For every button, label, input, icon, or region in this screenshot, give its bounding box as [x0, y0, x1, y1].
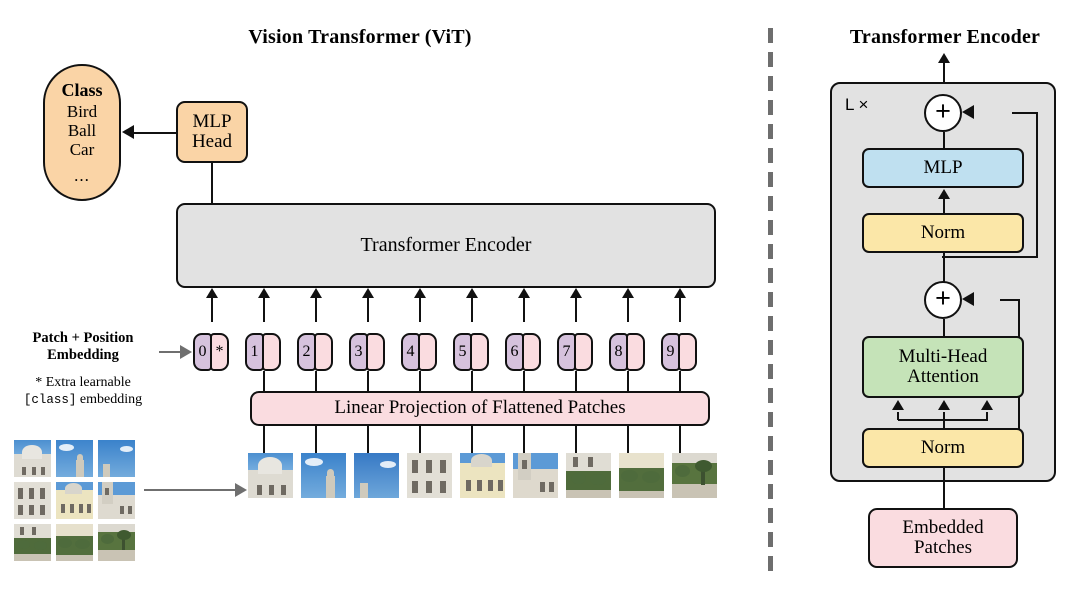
attention-label-line2: Attention [907, 367, 979, 387]
token-group-4: 4 [401, 333, 437, 371]
token-group-9: 9 [661, 333, 697, 371]
norm-bottom-label: Norm [921, 438, 965, 458]
embedded-patches-line1: Embedded [902, 518, 983, 538]
patch-stem-1 [263, 426, 265, 453]
patch-stem-8 [627, 426, 629, 453]
norm-bottom-box: Norm [862, 428, 1024, 468]
skip-top-vertical [1036, 112, 1038, 258]
skip-top-horizontal [1012, 112, 1038, 114]
skip-top-tap [942, 256, 1038, 258]
patch-position-embedding-label: Patch + Position Embedding [8, 330, 158, 364]
token-arrow-head-2 [310, 288, 322, 298]
patch-stem-3 [367, 426, 369, 453]
token-arrow-stem-4 [419, 298, 421, 322]
token-arrow-head-8 [622, 288, 634, 298]
patch-stem-9 [679, 426, 681, 453]
token-group-3: 3 [349, 333, 385, 371]
token-arrow-head-6 [518, 288, 530, 298]
token-arrow-head-7 [570, 288, 582, 298]
token-arrow-stem-6 [523, 298, 525, 322]
embedding-label-arrowhead [180, 345, 192, 359]
proj-stem-1 [263, 371, 265, 393]
note-line2-suffix: embedding [76, 392, 142, 407]
residual-add-top: + [924, 94, 962, 132]
proj-stem-3 [367, 371, 369, 393]
panel-divider [768, 28, 773, 576]
embedded-patches-line2: Patches [914, 538, 972, 558]
token-patch-1 [262, 333, 281, 371]
token-patch-9 [678, 333, 697, 371]
token-arrow-stem-2 [315, 298, 317, 322]
class-item-bird: Bird [67, 102, 97, 121]
token-group-8: 8 [609, 333, 645, 371]
source-patch-1-1 [56, 482, 93, 519]
mlphead-to-encoder-line [211, 163, 213, 205]
token-patch-3 [366, 333, 385, 371]
class-token-mono-label: [class] [24, 393, 77, 407]
token-arrow-stem-0 [211, 298, 213, 322]
left-panel-title: Vision Transformer (ViT) [190, 26, 530, 49]
token-group-1: 1 [245, 333, 281, 371]
extra-learnable-note: * Extra learnable [class] embedding [8, 375, 158, 409]
normtop-to-mlp-stem [943, 199, 945, 214]
strip-patch-1 [248, 453, 293, 498]
patch-stem-2 [315, 426, 317, 453]
proj-stem-9 [679, 371, 681, 393]
skip-bottom-horizontal [1000, 299, 1020, 301]
image-to-patches-arrowhead [235, 483, 247, 497]
transformer-encoder-block-label: Transformer Encoder [361, 235, 532, 256]
patch-stem-5 [471, 426, 473, 453]
proj-stem-4 [419, 371, 421, 393]
token-arrow-stem-3 [367, 298, 369, 322]
token-patch-6 [522, 333, 541, 371]
qkv-arrowhead-left [892, 400, 904, 410]
norm-top-label: Norm [921, 223, 965, 243]
norm-top-box: Norm [862, 213, 1024, 253]
mlp-head-line1: MLP [192, 112, 231, 132]
strip-patch-9 [672, 453, 717, 498]
token-arrow-stem-9 [679, 298, 681, 322]
token-arrow-head-9 [674, 288, 686, 298]
token-group-7: 7 [557, 333, 593, 371]
source-patch-1-2 [98, 482, 135, 519]
proj-stem-2 [315, 371, 317, 393]
patch-stem-4 [419, 426, 421, 453]
proj-stem-7 [575, 371, 577, 393]
token-arrow-stem-5 [471, 298, 473, 322]
token-patch-7 [574, 333, 593, 371]
class-heading: Class [61, 80, 102, 100]
qkv-arrowhead-right [981, 400, 993, 410]
strip-patch-7 [566, 453, 611, 498]
embedding-label-line2: Embedding [8, 347, 158, 364]
mlp-to-class-arrowhead [122, 125, 134, 139]
source-patch-0-2 [98, 440, 135, 477]
mlp-head-box: MLP Head [176, 101, 248, 163]
patch-stem-6 [523, 426, 525, 453]
strip-patch-2 [301, 453, 346, 498]
token-arrow-stem-8 [627, 298, 629, 322]
class-item-ball: Ball [68, 121, 96, 140]
attention-label-line1: Multi-Head [899, 347, 988, 367]
image-to-patches-arrow-line [144, 489, 236, 491]
normtop-to-mlp-arrowhead [938, 189, 950, 199]
source-image-grid [14, 440, 136, 562]
normtop-input-stem [943, 253, 945, 282]
note-line1: * Extra learnable [8, 375, 158, 392]
qkv-arrowhead-mid [938, 400, 950, 410]
vit-architecture-diagram: Vision Transformer (ViT) Class Bird Ball… [0, 0, 1080, 593]
strip-patch-6 [513, 453, 558, 498]
source-patch-2-1 [56, 524, 93, 561]
mlp-to-class-line [133, 132, 176, 134]
right-panel-title: Transformer Encoder [820, 26, 1070, 49]
residual-add-bottom: + [924, 281, 962, 319]
embedded-to-norm-stem [943, 466, 945, 510]
class-token-patch: * [210, 333, 229, 371]
token-patch-5 [470, 333, 489, 371]
token-arrow-head-4 [414, 288, 426, 298]
token-arrow-head-1 [258, 288, 270, 298]
repeat-count-label: L × [845, 95, 868, 115]
mlp-head-line2: Head [192, 132, 232, 152]
proj-stem-6 [523, 371, 525, 393]
token-patch-8 [626, 333, 645, 371]
qkv-stem-left [897, 412, 899, 420]
token-arrow-stem-1 [263, 298, 265, 322]
source-patch-0-1 [56, 440, 93, 477]
transformer-encoder-block: Transformer Encoder [176, 203, 716, 288]
source-patch-1-0 [14, 482, 51, 519]
token-arrow-head-3 [362, 288, 374, 298]
source-patch-2-2 [98, 524, 135, 561]
embedding-label-arrow-line [159, 351, 181, 353]
token-group-6: 6 [505, 333, 541, 371]
embedding-label-line1: Patch + Position [8, 330, 158, 347]
class-item-car: Car [70, 140, 95, 159]
proj-stem-8 [627, 371, 629, 393]
linear-projection-bar: Linear Projection of Flattened Patches [250, 391, 710, 426]
embedded-patches-box: Embedded Patches [868, 508, 1018, 568]
linear-projection-label: Linear Projection of Flattened Patches [334, 398, 625, 418]
token-group-2: 2 [297, 333, 333, 371]
token-arrow-head-5 [466, 288, 478, 298]
strip-patch-5 [460, 453, 505, 498]
token-patch-4 [418, 333, 437, 371]
skip-bottom-arrowhead [962, 292, 974, 306]
multi-head-attention-box: Multi-Head Attention [862, 336, 1024, 398]
mlp-box-label: MLP [923, 158, 962, 178]
source-patch-0-0 [14, 440, 51, 477]
qkv-stem-right [986, 412, 988, 420]
mlp-box: MLP [862, 148, 1024, 188]
note-line2: [class] embedding [8, 392, 158, 409]
strip-patch-3 [354, 453, 399, 498]
strip-patch-8 [619, 453, 664, 498]
class-output-box: Class Bird Ball Car ... [43, 64, 121, 201]
strip-patch-4 [407, 453, 452, 498]
patch-stem-7 [575, 426, 577, 453]
class-ellipsis: ... [74, 166, 90, 185]
token-patch-2 [314, 333, 333, 371]
token-group-5: 5 [453, 333, 489, 371]
encoder-output-arrowhead [938, 53, 950, 63]
token-arrow-head-0 [206, 288, 218, 298]
token-arrow-stem-7 [575, 298, 577, 322]
skip-top-arrowhead [962, 105, 974, 119]
class-token-group: 0 * [193, 333, 229, 371]
source-patch-2-0 [14, 524, 51, 561]
proj-stem-5 [471, 371, 473, 393]
flattened-patch-strip [248, 453, 718, 503]
